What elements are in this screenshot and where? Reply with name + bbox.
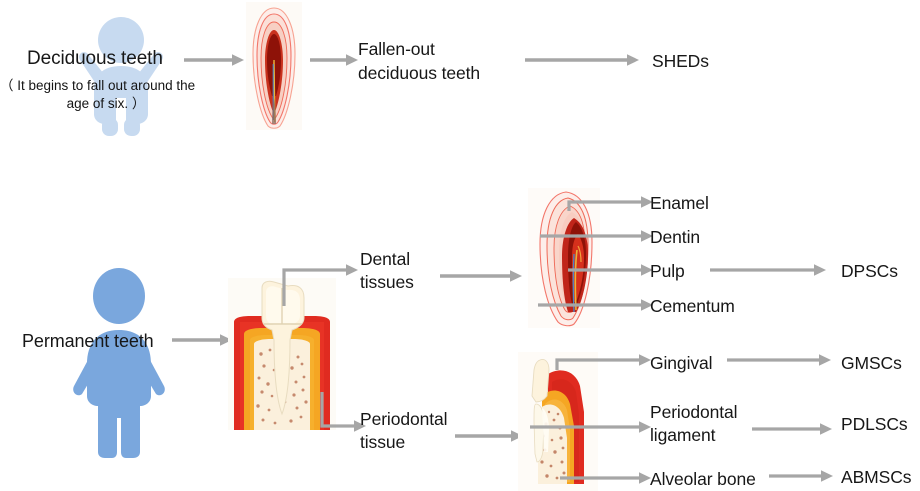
sheds-label: SHEDs [652, 50, 709, 73]
arrow-tooth-to-fallenout [310, 52, 360, 68]
stemcell-label-abmscs: ABMSCs [841, 466, 911, 489]
component-label-periodontal-ligament-line1: Periodontal [650, 401, 737, 424]
arrow-periodontal-to-section [455, 428, 525, 444]
leader-cementum [538, 297, 655, 313]
periodontal-tissue-label-line1: Periodontal [360, 408, 447, 431]
arrow-gingival-to-gmscs [727, 352, 833, 368]
component-label-pulp: Pulp [650, 260, 685, 283]
deciduous-note-line1: （ It begins to fall out around the [0, 76, 212, 95]
deciduous-tooth-cross-section-icon [246, 2, 302, 130]
stemcell-label-gmscs: GMSCs [841, 352, 902, 375]
arrow-deciduous-to-tooth [184, 52, 246, 68]
stemcell-label-pdlscs: PDLSCs [841, 413, 908, 436]
arrow-pulp-to-dpscs [710, 262, 828, 278]
leader-pulp [568, 262, 655, 278]
permanent-teeth-title: Permanent teeth [22, 330, 154, 354]
arrow-fallenout-to-sheds [525, 52, 641, 68]
component-label-enamel: Enamel [650, 192, 709, 215]
adult-figure-icon [64, 268, 174, 458]
child-figure-icon [62, 14, 180, 136]
dental-tissues-label-line1: Dental [360, 248, 410, 271]
leader-enamel [565, 195, 655, 213]
deciduous-note-line2: age of six. ） [0, 94, 212, 113]
arrow-bone-to-abmscs [769, 468, 835, 484]
stemcell-label-dpscs: DPSCs [841, 260, 898, 283]
arrow-ligament-to-pdlscs [752, 421, 834, 437]
deciduous-teeth-title: Deciduous teeth [27, 46, 163, 71]
diagram-canvas: Deciduous teeth （ It begins to fall out … [0, 0, 920, 491]
periodontal-tissue-label-line2: tissue [360, 431, 405, 454]
leader-alveolar-bone [560, 470, 653, 486]
component-label-cementum: Cementum [650, 295, 735, 318]
connector-tooth-to-dental-tissues [272, 262, 362, 310]
arrow-permanent-to-tooth [172, 332, 234, 348]
arrow-dental-tissues-to-section [440, 268, 524, 284]
component-label-alveolar-bone: Alveolar bone [650, 468, 756, 491]
fallen-out-label-line2: deciduous teeth [358, 62, 480, 85]
leader-dentin [540, 228, 655, 244]
component-label-gingival: Gingival [650, 352, 712, 375]
fallen-out-label-line1: Fallen-out [358, 38, 435, 61]
component-label-periodontal-ligament-line2: ligament [650, 424, 715, 447]
dental-tissues-label-line2: tissues [360, 271, 414, 294]
leader-gingival [553, 352, 653, 372]
leader-periodontal-ligament [530, 419, 653, 435]
component-label-dentin: Dentin [650, 226, 700, 249]
